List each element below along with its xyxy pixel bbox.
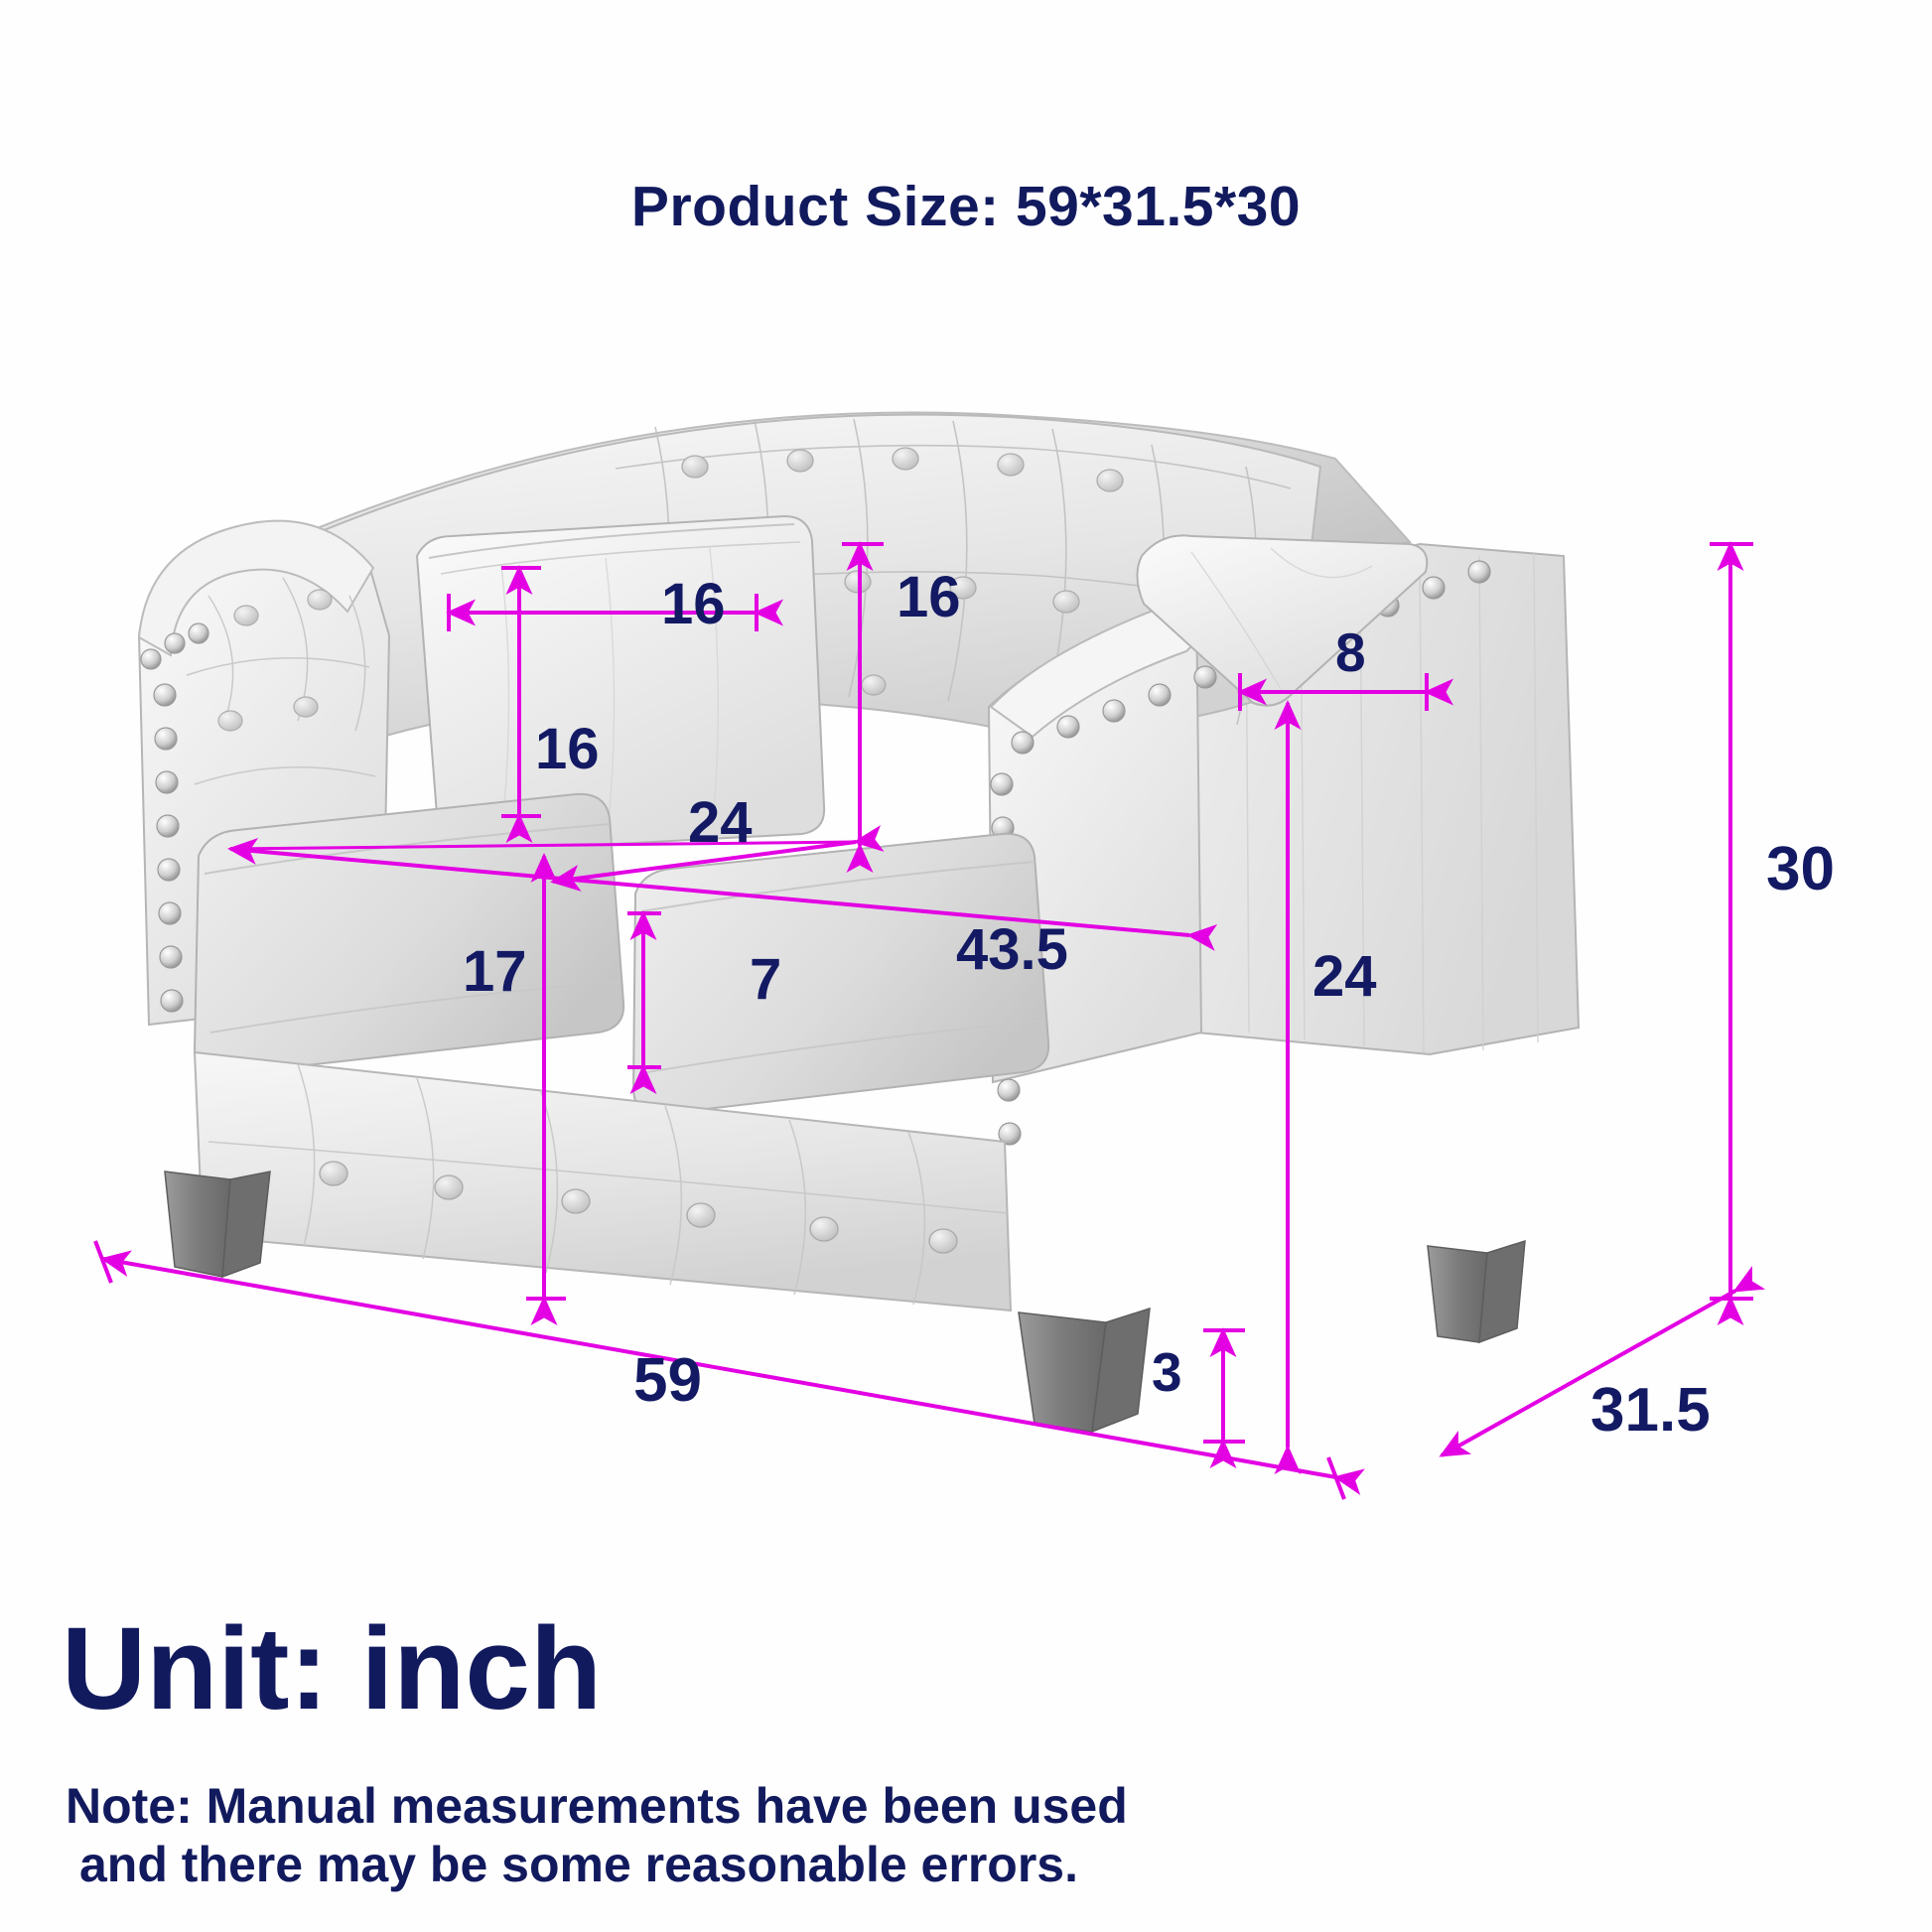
unit-label: Unit: inch <box>62 1610 602 1727</box>
dimension-label-overall-height: 30 <box>1766 839 1835 900</box>
dimension-label-overall-depth: 31.5 <box>1590 1380 1711 1442</box>
dimension-diagram-page: Product Size: 59*31.5*30 <box>0 0 1932 1932</box>
dimension-label-seat-width: 43.5 <box>956 921 1068 979</box>
dimension-label-pillow-width: 16 <box>661 576 726 633</box>
dimension-label-pillow-height: 16 <box>535 721 600 778</box>
dimension-label-seat-height: 17 <box>463 943 527 1001</box>
dimension-label-cushion-thickness: 7 <box>750 951 781 1009</box>
dimension-label-overall-width: 59 <box>633 1350 702 1412</box>
dimension-label-seat-depth: 24 <box>688 794 753 852</box>
dimension-label-leg-height: 3 <box>1152 1345 1182 1400</box>
note-line-2: and there may be some reasonable errors. <box>79 1836 1356 1894</box>
note-line-1: Note: Manual measurements have been used <box>66 1777 1356 1836</box>
measurement-note: Note: Manual measurements have been used… <box>66 1777 1356 1894</box>
dimension-label-arm-height: 24 <box>1312 948 1377 1006</box>
dimension-label-backrest-height: 16 <box>897 569 961 626</box>
dimension-label-arm-width: 8 <box>1335 625 1366 680</box>
